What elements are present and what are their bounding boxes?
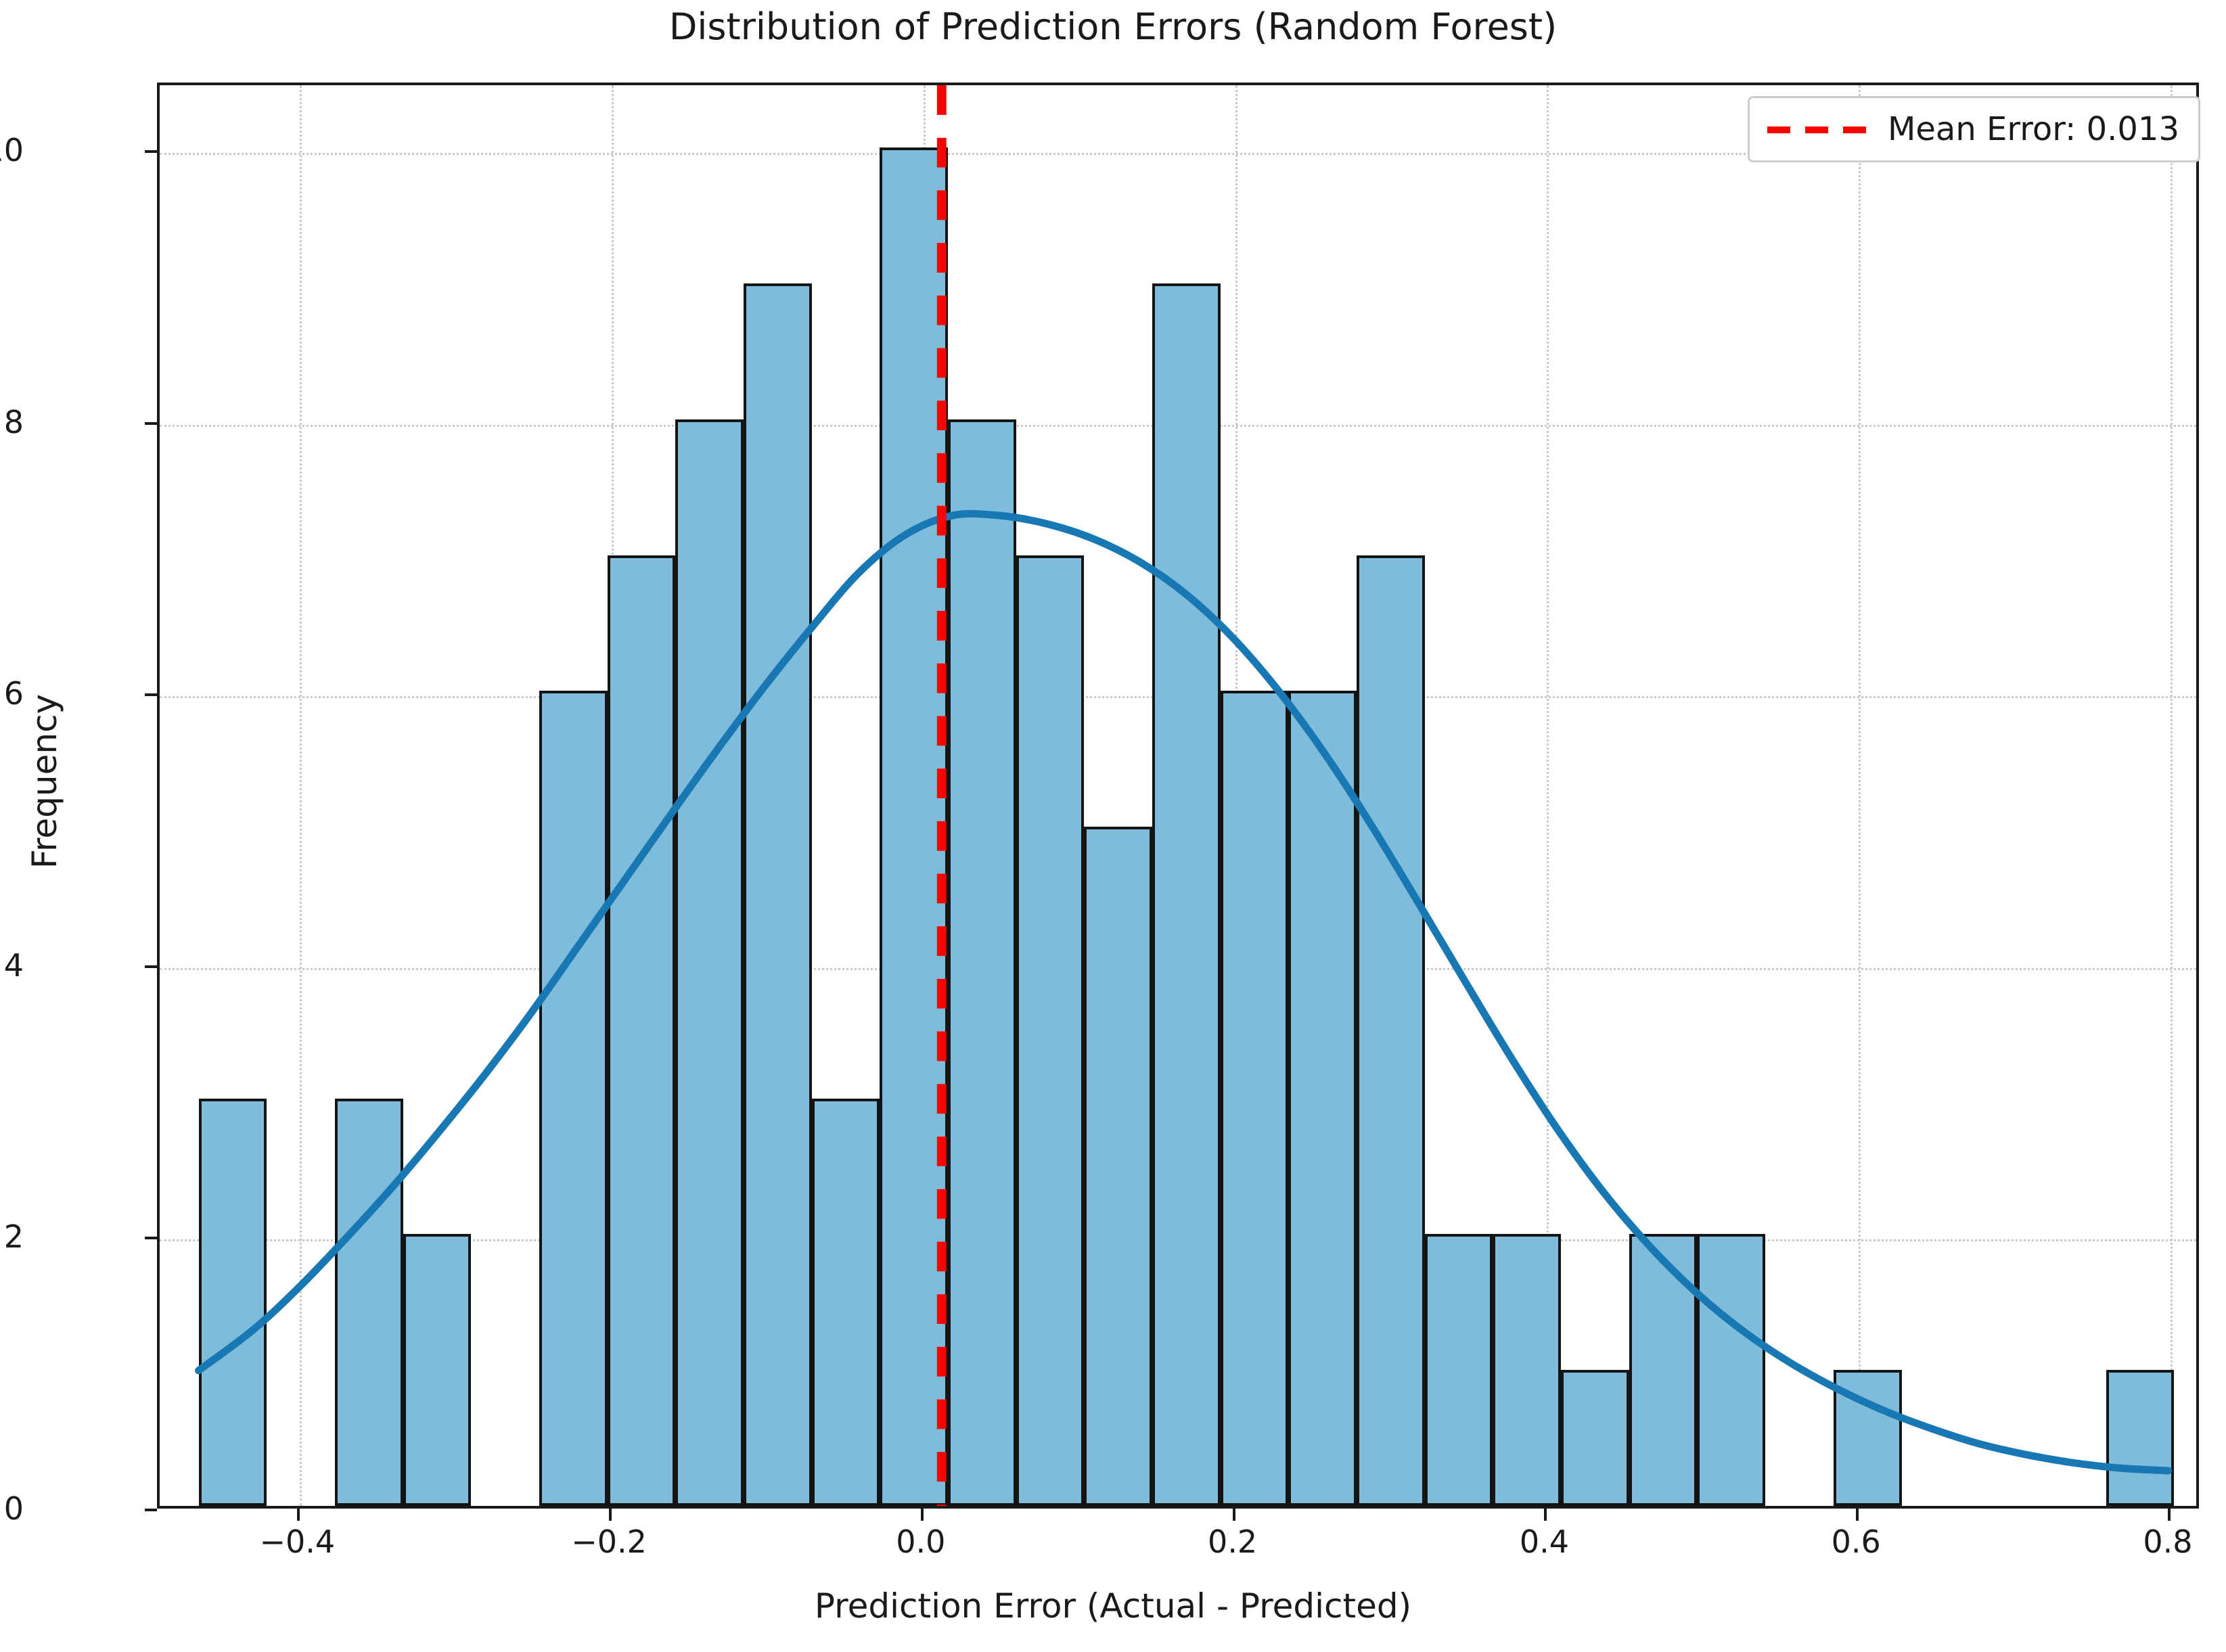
x-axis-label: Prediction Error (Actual - Predicted)	[0, 1586, 2226, 1626]
y-tick-mark	[145, 1237, 157, 1239]
y-tick-label: 8	[4, 404, 24, 440]
x-tick-label: 0.8	[2143, 1523, 2192, 1560]
histogram-figure: Distribution of Prediction Errors (Rando…	[0, 0, 2226, 1652]
x-tick-mark	[2168, 1509, 2171, 1521]
y-tick-mark	[145, 150, 157, 153]
y-tick-label: 2	[4, 1218, 24, 1255]
x-tick-label: 0.4	[1520, 1523, 1569, 1560]
y-axis-label: Frequency	[25, 578, 64, 984]
x-tick-label: 0.0	[896, 1523, 945, 1560]
y-tick-mark	[145, 965, 157, 968]
y-tick-mark	[145, 1509, 157, 1511]
y-tick-label: 6	[4, 675, 24, 712]
x-tick-label: −0.2	[571, 1523, 647, 1560]
chart-title: Distribution of Prediction Errors (Rando…	[0, 5, 2226, 48]
x-tick-mark	[1856, 1509, 1859, 1521]
y-tick-mark	[145, 422, 157, 425]
x-tick-label: 0.6	[1832, 1523, 1881, 1560]
x-tick-mark	[921, 1509, 924, 1521]
x-tick-label: 0.2	[1208, 1523, 1257, 1560]
mean-error-line	[160, 85, 2196, 1506]
plot-area	[157, 83, 2199, 1509]
legend-dashed-line-icon	[1766, 126, 1867, 133]
y-tick-label: 0	[4, 1490, 24, 1527]
x-tick-mark	[609, 1509, 612, 1521]
y-tick-label: 4	[4, 947, 24, 984]
y-tick-label: 10	[0, 132, 24, 168]
x-tick-mark	[1233, 1509, 1235, 1521]
x-tick-mark	[1544, 1509, 1547, 1521]
x-tick-label: −0.4	[259, 1523, 335, 1560]
y-tick-mark	[145, 693, 157, 696]
legend-label-mean-error: Mean Error: 0.013	[1888, 110, 2179, 148]
legend: Mean Error: 0.013	[1748, 96, 2200, 162]
x-tick-mark	[297, 1509, 300, 1521]
